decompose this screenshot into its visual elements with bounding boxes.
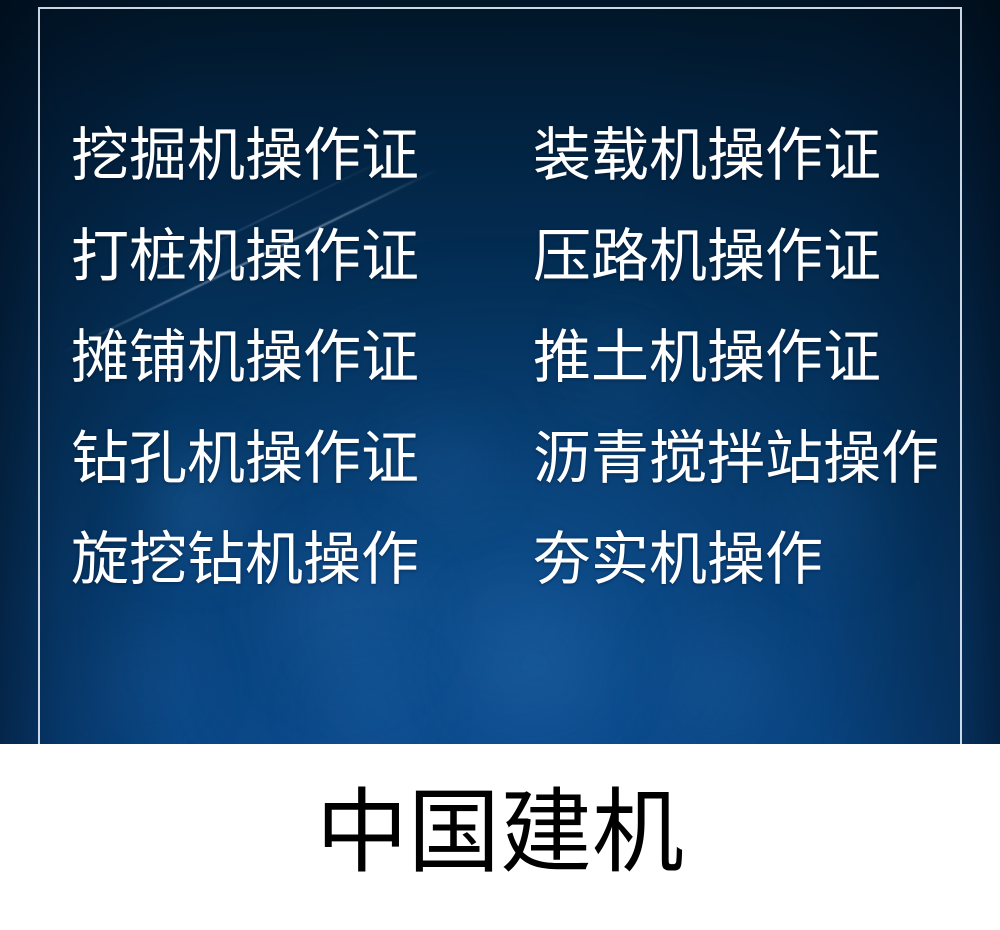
caption-band: 中国建机 (0, 744, 1000, 930)
certificate-item: 钻孔机操作证 (71, 422, 419, 494)
certificate-list: 挖掘机操作证 装载机操作证 打桩机操作证 压路机操作证 摊铺机操作证 推土机操作… (0, 0, 1000, 744)
certificate-item: 沥青搅拌站操作 (533, 422, 939, 494)
certificate-row: 摊铺机操作证 推土机操作证 (0, 321, 1000, 393)
poster: 挖掘机操作证 装载机操作证 打桩机操作证 压路机操作证 摊铺机操作证 推土机操作… (0, 0, 1000, 930)
certificate-item: 装载机操作证 (533, 119, 881, 191)
brand-title: 中国建机 (316, 787, 684, 879)
certificate-row: 旋挖钻机操作 夯实机操作 (0, 523, 1000, 595)
certificate-item: 挖掘机操作证 (71, 119, 419, 191)
certificate-item: 推土机操作证 (533, 321, 881, 393)
certificate-item: 夯实机操作 (533, 523, 823, 595)
certificate-row: 打桩机操作证 压路机操作证 (0, 220, 1000, 292)
certificate-item: 摊铺机操作证 (71, 321, 419, 393)
certificate-item: 压路机操作证 (533, 220, 881, 292)
certificate-row: 钻孔机操作证 沥青搅拌站操作 (0, 422, 1000, 494)
certificate-item: 旋挖钻机操作 (71, 523, 419, 595)
certificate-item: 打桩机操作证 (71, 220, 419, 292)
certificate-row: 挖掘机操作证 装载机操作证 (0, 119, 1000, 191)
